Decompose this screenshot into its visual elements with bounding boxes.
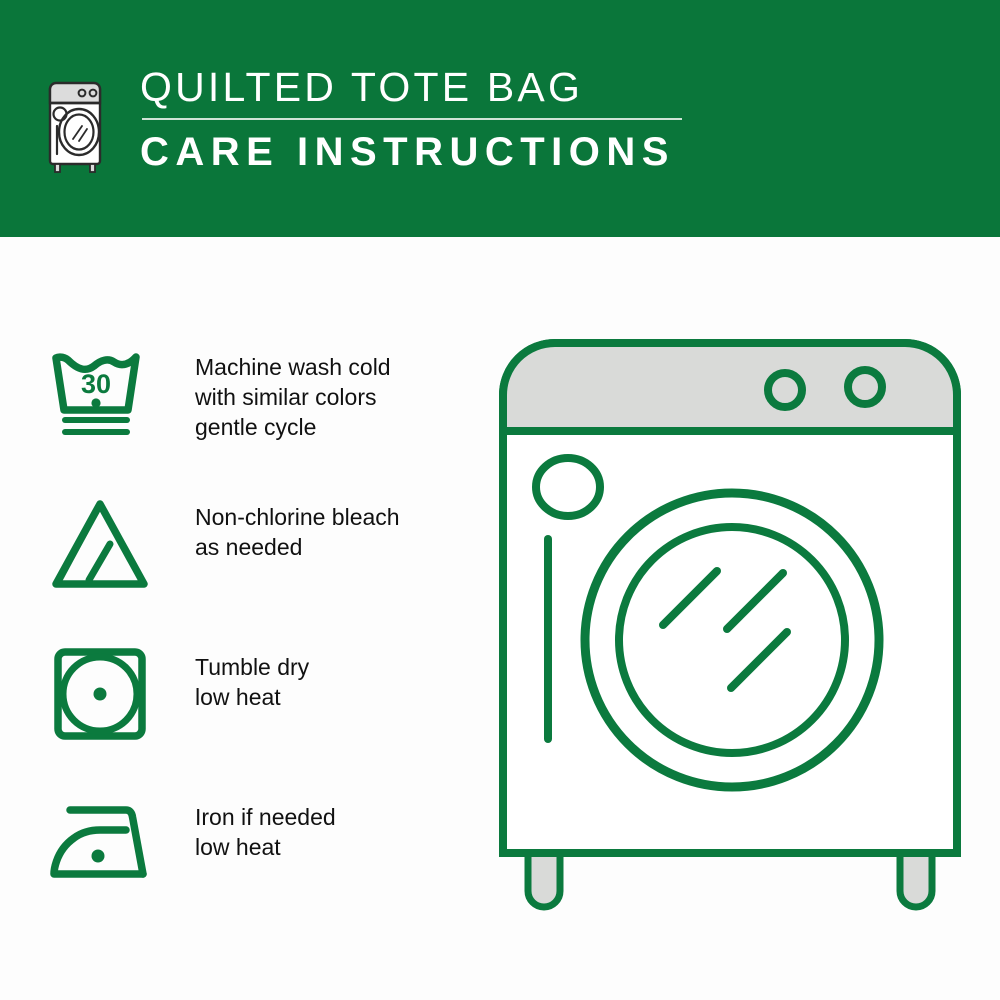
wash-basin-icon: 30 xyxy=(48,346,158,446)
care-row: Iron if needed low heat xyxy=(48,780,478,930)
page-title-subtitle: CARE INSTRUCTIONS xyxy=(140,128,682,176)
bleach-triangle-icon xyxy=(48,496,158,596)
care-row: Non-chlorine bleach as needed xyxy=(48,480,478,630)
care-instructions-page: QUILTED TOTE BAG CARE INSTRUCTIONS 30 xyxy=(0,0,1000,1000)
care-symbol-slot xyxy=(48,630,163,746)
header-banner: QUILTED TOTE BAG CARE INSTRUCTIONS xyxy=(0,0,1000,237)
care-row: Tumble dry low heat xyxy=(48,630,478,780)
machine-foot-left xyxy=(528,851,560,907)
care-label: Tumble dry low heat xyxy=(195,630,309,712)
title-divider xyxy=(142,118,682,120)
machine-foot-right xyxy=(900,851,932,907)
tumble-dry-icon xyxy=(48,646,158,746)
care-symbol-slot xyxy=(48,780,163,896)
washing-machine-icon xyxy=(44,66,108,178)
wash-temperature-value: 30 xyxy=(81,369,111,399)
iron-icon xyxy=(48,796,158,896)
care-label: Iron if needed low heat xyxy=(195,780,336,862)
header-title-block: QUILTED TOTE BAG CARE INSTRUCTIONS xyxy=(140,62,682,176)
care-label: Machine wash cold with similar colors ge… xyxy=(195,330,391,442)
washing-machine-illustration xyxy=(495,335,965,915)
care-row: 30 Machine wash cold with similar colors… xyxy=(48,330,478,480)
care-symbol-slot: 30 xyxy=(48,330,163,446)
header-content: QUILTED TOTE BAG CARE INSTRUCTIONS xyxy=(44,62,682,178)
page-title-product: QUILTED TOTE BAG xyxy=(140,62,682,112)
care-label: Non-chlorine bleach as needed xyxy=(195,480,400,562)
care-symbol-slot xyxy=(48,480,163,596)
care-instruction-list: 30 Machine wash cold with similar colors… xyxy=(48,330,478,930)
machine-control-panel xyxy=(503,343,957,431)
